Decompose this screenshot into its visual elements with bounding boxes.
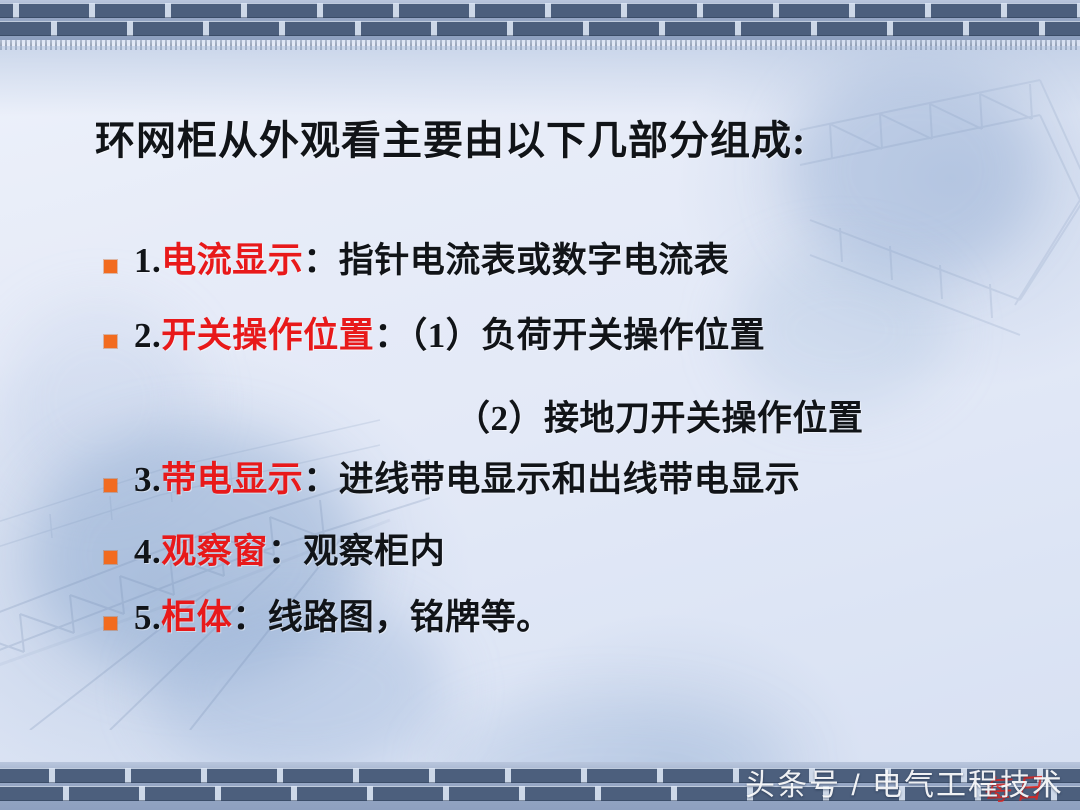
list-item-text: 1.电流显示：指针电流表或数字电流表 [134,243,729,280]
list-item: 3.带电显示：进线带电显示和出线带电显示 [104,462,800,499]
list-item-highlight: 观察窗 [161,532,268,571]
bullet-square-icon [104,551,117,564]
bullet-square-icon [104,617,117,630]
list-item-text: 2.开关操作位置：（1）负荷开关操作位置 [134,318,765,355]
list-item-number: 2. [134,316,161,355]
list-item-highlight: 柜体 [161,598,232,637]
list-item: 4.观察窗：观察柜内 [104,534,445,571]
list-item: 2.开关操作位置：（1）负荷开关操作位置 [104,318,765,355]
list-item-highlight: 开关操作位置 [161,316,374,355]
list-item-text: 3.带电显示：进线带电显示和出线带电显示 [134,462,800,499]
list-item-rest: ：指针电流表或数字电流表 [303,241,729,280]
bullet-square-icon [104,479,117,492]
list-item-text: 4.观察窗：观察柜内 [134,534,445,571]
bullet-square-icon [104,335,117,348]
list-item-text: 5.柜体：线路图，铭牌等。 [134,600,552,637]
list-item: 1.电流显示：指针电流表或数字电流表 [104,243,729,280]
list-item-rest: ：观察柜内 [268,532,446,571]
page-title: 环网柜从外观看主要由以下几部分组成: [95,108,806,166]
list-item-number: 1. [134,241,161,280]
list-item-highlight: 电流显示 [161,241,303,280]
slide: 环网柜从外观看主要由以下几部分组成: 1.电流显示：指针电流表或数字电流表 2.… [0,0,1080,810]
watermark-text: 头条号 / 电气工程技术 [745,760,1064,804]
list-item-continuation: （2）接地刀开关操作位置 [455,390,864,441]
bullet-square-icon [104,260,117,273]
list-item-highlight: 带电显示 [161,460,303,499]
list-item: 5.柜体：线路图，铭牌等。 [104,600,552,637]
list-item-rest: ：进线带电显示和出线带电显示 [303,460,800,499]
list-item-rest: ：线路图，铭牌等。 [232,598,552,637]
slide-content: 环网柜从外观看主要由以下几部分组成: 1.电流显示：指针电流表或数字电流表 2.… [0,0,1080,810]
list-item-rest: ：（1）负荷开关操作位置 [374,316,765,355]
list-item-number: 4. [134,532,161,571]
list-item-number: 3. [134,460,161,499]
list-item-number: 5. [134,598,161,637]
